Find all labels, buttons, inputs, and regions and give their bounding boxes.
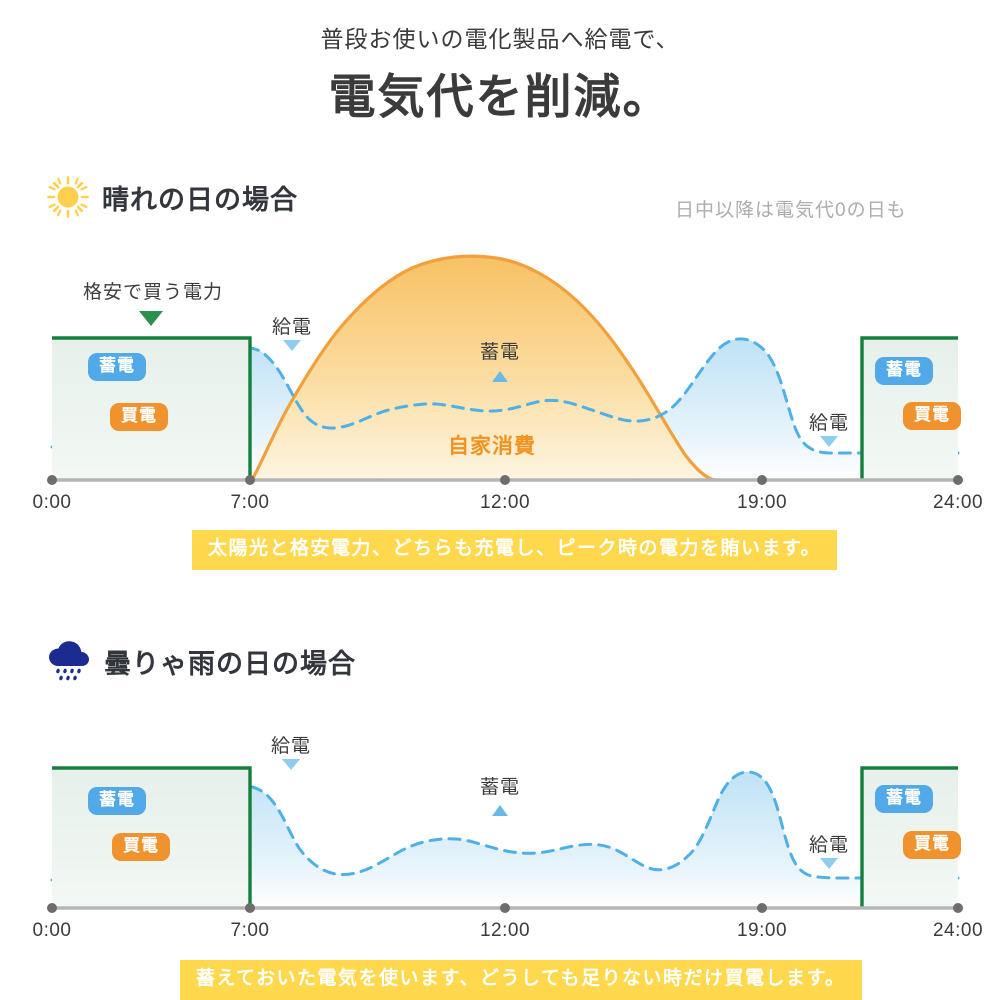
axis-tick-dot	[47, 903, 57, 913]
triangle-down-blue-icon	[283, 340, 301, 351]
axis-tick-dot	[500, 903, 510, 913]
pill-buy-right-cloudy: 買電	[903, 831, 961, 859]
axis-tick-dot	[245, 475, 255, 485]
annotation-cheap-power: 格安で買う電力	[83, 277, 223, 304]
annotation-supply-right-sunny: 給電	[809, 408, 849, 435]
axis-label: 7:00	[231, 920, 270, 942]
axis-tick-dot	[245, 903, 255, 913]
pill-store-left-sunny: 蓄電	[88, 353, 146, 381]
page-title: 電気代を削減。	[0, 70, 1000, 124]
annotation-store-mid-sunny: 蓄電	[480, 337, 520, 364]
axis-label: 12:00	[480, 920, 530, 942]
axis-label: 12:00	[480, 492, 530, 514]
triangle-down-blue-icon	[282, 759, 300, 770]
axis-tick-dot	[47, 475, 57, 485]
section-header-cloudy: 曇りゃ雨の日の場合	[46, 640, 356, 682]
annotation-supply-left-sunny: 給電	[272, 312, 312, 339]
triangle-up-blue-icon	[492, 371, 508, 382]
caption-cloudy: 蓄えておいた電気を使います、どうしても足りない時だけ買電します。	[180, 960, 862, 1000]
annotation-supply-right-cloudy: 給電	[809, 830, 849, 857]
axis-label: 24:00	[933, 920, 983, 942]
axis-tick-dot	[953, 903, 963, 913]
page-header: 普段お使いの電化製品へ給電で、 電気代を削減。	[0, 0, 1000, 124]
axis-label: 0:00	[33, 492, 72, 514]
pill-store-left-cloudy: 蓄電	[88, 787, 146, 815]
annotation-supply-left-cloudy: 給電	[271, 731, 311, 758]
axis-tick-dot	[500, 475, 510, 485]
caption-sunny: 太陽光と格安電力、どちらも充電し、ピーク時の電力を賄います。	[192, 530, 837, 570]
annotation-self-use-sunny: 自家消費	[448, 430, 536, 460]
annotation-store-mid-cloudy: 蓄電	[480, 772, 520, 799]
section-title-sunny: 晴れの日の場合	[102, 178, 298, 217]
axis-label: 24:00	[933, 492, 983, 514]
pill-store-right-sunny: 蓄電	[875, 357, 933, 385]
axis-label: 19:00	[737, 920, 787, 942]
section-header-sunny: 晴れの日の場合	[46, 175, 298, 219]
section-note-sunny: 日中以降は電気代0の日も	[675, 195, 907, 222]
triangle-down-blue-icon	[820, 858, 838, 869]
pill-buy-left-sunny: 買電	[110, 403, 168, 431]
section-title-cloudy: 曇りゃ雨の日の場合	[104, 642, 356, 681]
axis-tick-dot	[757, 475, 767, 485]
triangle-down-blue-icon	[820, 436, 838, 447]
axis-tick-dot	[757, 903, 767, 913]
triangle-up-blue-icon	[492, 805, 508, 816]
rain-cloud-icon	[46, 640, 92, 682]
axis-label: 0:00	[33, 920, 72, 942]
sun-icon	[46, 175, 90, 219]
axis-label: 19:00	[737, 492, 787, 514]
pill-buy-left-cloudy: 買電	[112, 833, 170, 861]
triangle-down-green-icon	[139, 311, 163, 326]
page-root: 普段お使いの電化製品へ給電で、 電気代を削減。	[0, 0, 1000, 1000]
axis-tick-dot	[953, 475, 963, 485]
pill-buy-right-sunny: 買電	[903, 402, 961, 430]
axis-label: 7:00	[231, 492, 270, 514]
pill-store-right-cloudy: 蓄電	[875, 785, 933, 813]
header-subtitle: 普段お使いの電化製品へ給電で、	[0, 26, 1000, 54]
